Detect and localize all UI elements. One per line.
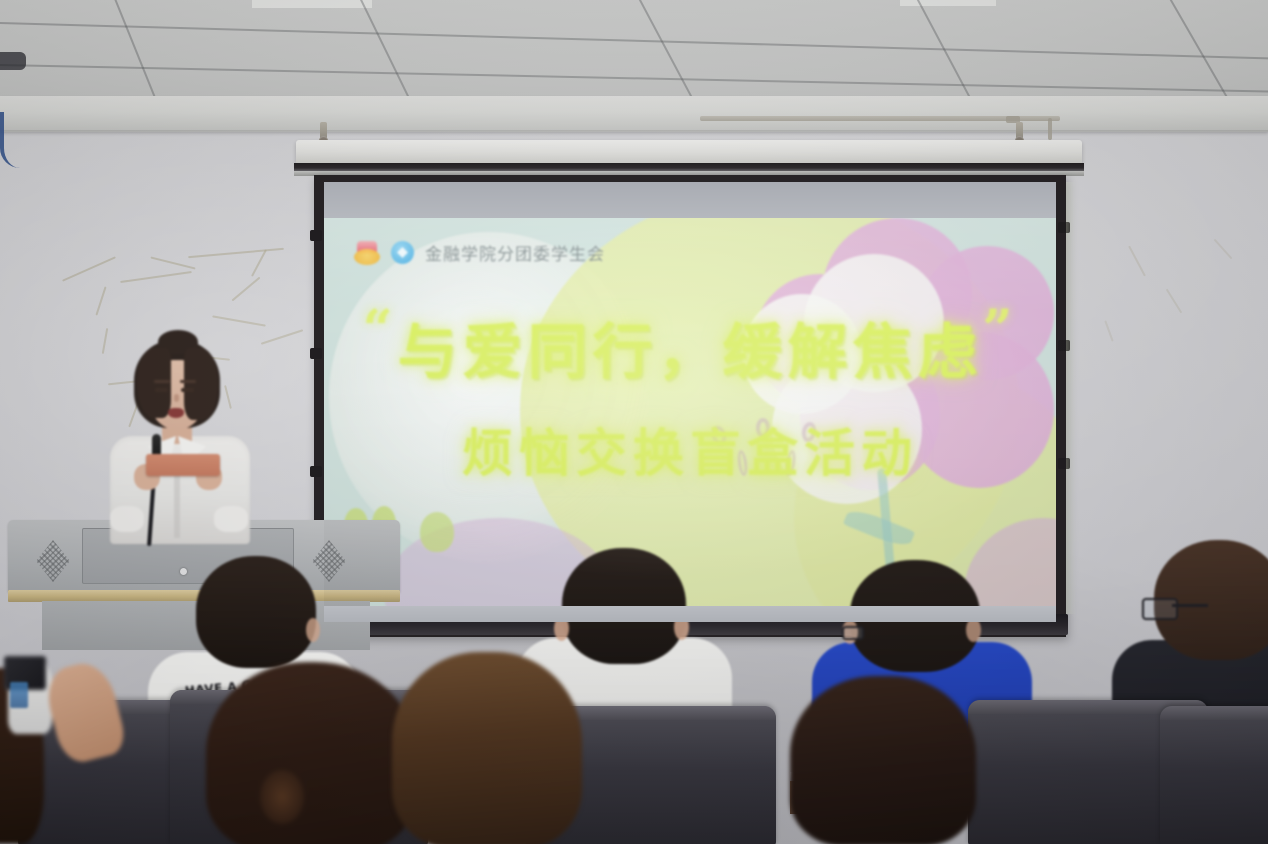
audience-ear	[306, 618, 320, 642]
cornice-shadow	[0, 130, 1268, 134]
quote-open: “	[363, 299, 398, 360]
presenter-brow-left	[154, 380, 170, 383]
audience-member-longhair-right	[790, 676, 976, 844]
wall-cornice	[0, 96, 1268, 132]
slide-org-name: 金融学院分团委学生会	[425, 240, 605, 265]
wall-cable	[0, 112, 26, 168]
dark-fixture-corner	[0, 52, 26, 70]
slide-title-row: “与爱同行，缓解焦虑”	[324, 304, 1056, 391]
audience-hair	[206, 662, 416, 844]
audience-hair	[392, 652, 582, 844]
presenter-eye-right	[181, 388, 194, 392]
eyeglasses-temple	[1172, 604, 1208, 607]
slide-title-line: “与爱同行，缓解焦虑”	[324, 304, 1056, 391]
presenter	[104, 336, 254, 536]
quote-close: ”	[983, 299, 1018, 360]
slide-subtitle-row: 烦恼交换盲盒活动	[324, 412, 1056, 486]
badge-logo-icon	[391, 241, 414, 264]
slide-subtitle-text: 烦恼交换盲盒活动	[324, 412, 1056, 486]
slide-title-text: 与爱同行，缓解焦虑	[398, 318, 983, 388]
presenter-hair-front-left	[137, 348, 171, 418]
presenter-hair-front-right	[184, 348, 218, 420]
raised-hand	[41, 657, 128, 766]
hair-highlight	[260, 770, 304, 824]
presenter-eye-left	[155, 388, 168, 392]
presenter-brow-right	[180, 380, 196, 383]
emblem-logo-icon	[354, 241, 380, 265]
screen-tensioner	[310, 466, 322, 477]
slide-org-header: 金融学院分团委学生会	[354, 240, 605, 265]
eyeglasses	[1142, 598, 1178, 620]
presenter-cuff-right	[214, 506, 248, 532]
slide-pear-shape	[420, 512, 454, 552]
speech-card	[146, 454, 220, 476]
projection-spill	[1066, 182, 1076, 614]
audience-hair	[790, 676, 976, 844]
presenter-cuff-left	[110, 506, 144, 532]
eyeglasses	[842, 626, 864, 640]
screen-tensioner	[310, 348, 322, 359]
presenter-mouth	[168, 408, 184, 418]
presenter-nose	[174, 394, 179, 402]
audience-head	[196, 556, 316, 668]
audience-member-longhair-center	[392, 652, 582, 844]
audience-member-longhair-left	[206, 662, 416, 844]
device-screen	[10, 682, 28, 708]
screen-unlit-top-band	[324, 182, 1056, 218]
screen-tensioner	[310, 230, 322, 241]
classroom-presentation-photo: 金融学院分团委学生会 “与爱同行，缓解焦虑” 烦恼交换盲盒活动	[0, 0, 1268, 844]
conduit-drop	[1048, 118, 1052, 140]
screen-unlit-bottom-band	[324, 606, 1056, 622]
auditorium-chair	[1160, 706, 1268, 844]
